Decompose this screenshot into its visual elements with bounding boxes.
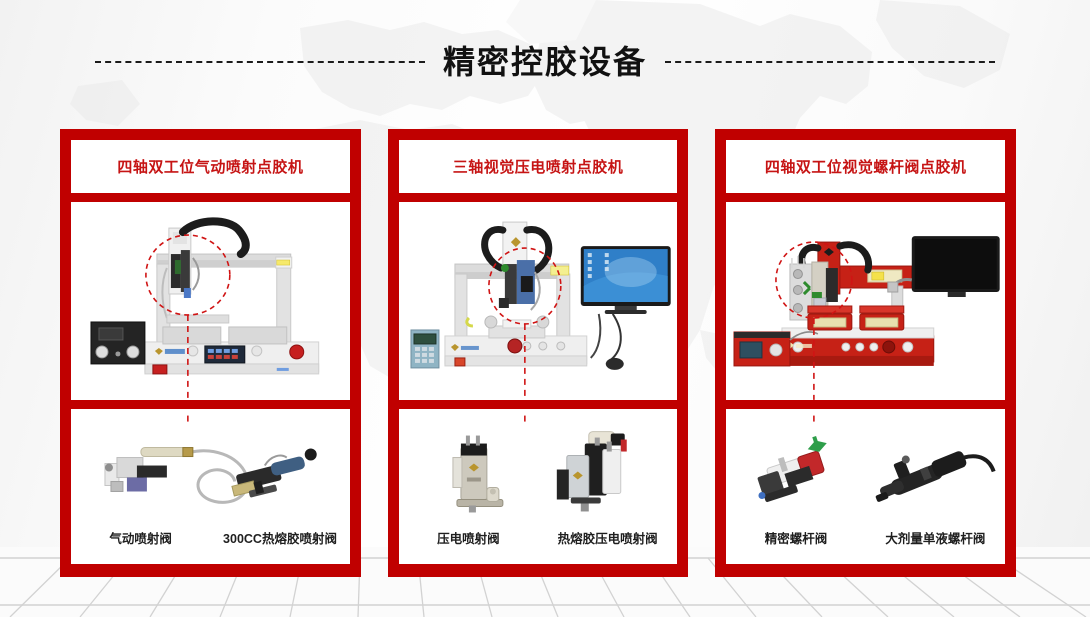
header-rule-left [95, 61, 425, 63]
monitor-2 [580, 246, 670, 314]
part-label-2-2: 热熔胶压电喷射阀 [538, 528, 677, 547]
monitor-3 [912, 236, 1000, 297]
parts-label-row-1: 气动喷射阀 300CC热熔胶喷射阀 [71, 528, 350, 547]
product-card-row: 四轴双工位气动喷射点胶机 [60, 129, 1016, 577]
product-card-2[interactable]: 三轴视觉压电喷射点胶机 [388, 129, 689, 577]
product-title-1: 四轴双工位气动喷射点胶机 [117, 156, 303, 177]
part-label-2-1: 压电喷射阀 [399, 528, 538, 547]
product-title-2: 三轴视觉压电喷射点胶机 [453, 156, 624, 177]
product-card-1[interactable]: 四轴双工位气动喷射点胶机 [60, 129, 361, 577]
section-header: 精密控胶设备 [0, 46, 1090, 78]
machine-photo-2 [399, 202, 678, 400]
product-title-panel-3: 四轴双工位视觉螺杆阀点胶机 [726, 140, 1005, 193]
parts-label-row-3: 精密螺杆阀 大剂量单液螺杆阀 [726, 528, 1005, 547]
parts-panel-1: 气动喷射阀 300CC热熔胶喷射阀 [71, 409, 350, 564]
machine-photo-1 [71, 202, 350, 400]
header-rule-right [665, 61, 995, 63]
machine-photo-3 [726, 202, 1005, 400]
page-title: 精密控胶设备 [443, 46, 647, 78]
part-label-3-2: 大剂量单液螺杆阀 [866, 528, 1005, 547]
product-title-panel-2: 三轴视觉压电喷射点胶机 [399, 140, 678, 193]
product-title-panel-1: 四轴双工位气动喷射点胶机 [71, 140, 350, 193]
page-root: 精密控胶设备 四轴双工位气动喷射点胶机 [0, 0, 1090, 617]
part-label-3-1: 精密螺杆阀 [726, 528, 865, 547]
product-title-3: 四轴双工位视觉螺杆阀点胶机 [765, 156, 967, 177]
product-card-3[interactable]: 四轴双工位视觉螺杆阀点胶机 [715, 129, 1016, 577]
parts-panel-3: 精密螺杆阀 大剂量单液螺杆阀 [726, 409, 1005, 564]
parts-panel-2: 压电喷射阀 热熔胶压电喷射阀 [399, 409, 678, 564]
part-label-1-2: 300CC热熔胶喷射阀 [210, 528, 349, 547]
parts-label-row-2: 压电喷射阀 热熔胶压电喷射阀 [399, 528, 678, 547]
part-label-1-1: 气动喷射阀 [71, 528, 210, 547]
